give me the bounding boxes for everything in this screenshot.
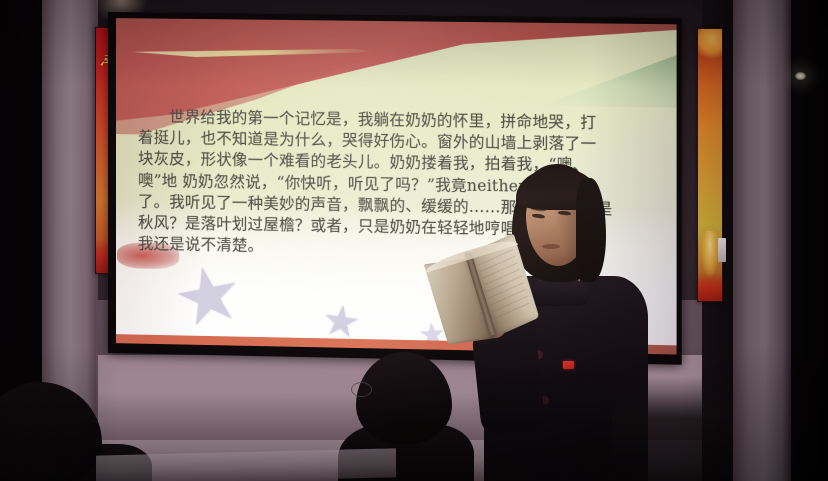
presenter-lapel-badge xyxy=(563,361,574,369)
banner-swirl-decor xyxy=(697,28,723,59)
audience-head-shape-center xyxy=(356,352,452,444)
audience-head-shape-left xyxy=(0,382,102,481)
audience-body-right xyxy=(612,376,732,481)
banner-ribbon xyxy=(698,273,722,301)
presenter-hair-side xyxy=(576,178,606,282)
photo-frame: ☭ ★ ★ ★ 世界给我的第一个记忆是，我躺在奶奶的怀里，拼命地哭，打 着挺儿，… xyxy=(0,0,828,481)
banner-figure-decor xyxy=(701,231,719,277)
wall-pillar-right xyxy=(733,0,791,481)
wall-socket-plug xyxy=(718,238,726,262)
audience-glasses-icon xyxy=(351,382,372,397)
presenter-mouth xyxy=(542,244,560,249)
ceiling-downlight-icon xyxy=(795,72,806,80)
